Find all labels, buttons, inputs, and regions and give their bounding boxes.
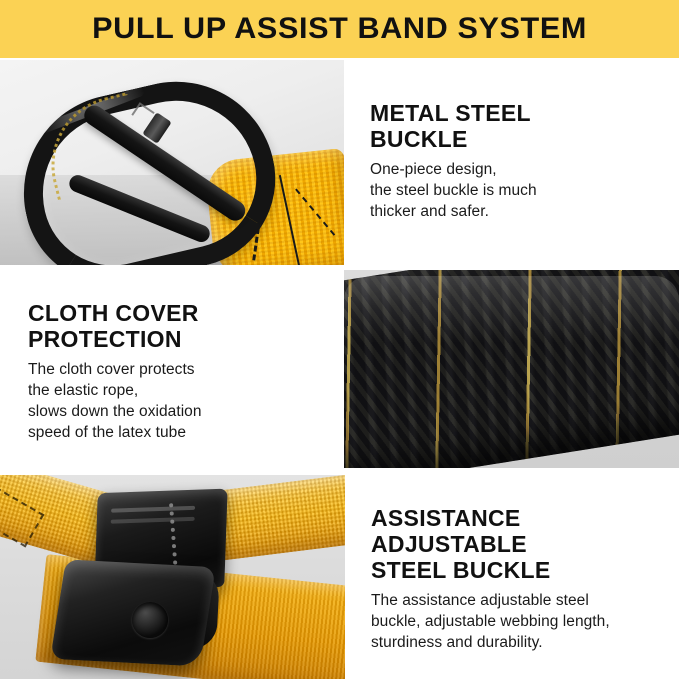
feature-body: The assistance adjustable steel buckle, … (371, 590, 665, 653)
strap-stitch-box (0, 482, 44, 548)
body-line: One-piece design, (370, 159, 661, 180)
feature-text-metal-steel-buckle: METAL STEEL BUCKLE One-piece design, the… (344, 60, 679, 265)
body-line: thicker and safer. (370, 201, 661, 222)
heading-line: PROTECTION (28, 326, 182, 352)
heading-line: ADJUSTABLE (371, 531, 527, 557)
feature-heading: ASSISTANCE ADJUSTABLE STEEL BUCKLE (371, 505, 665, 583)
body-line: sturdiness and durability. (371, 632, 665, 653)
header-banner: PULL UP ASSIST BAND SYSTEM (0, 0, 679, 58)
body-line: The cloth cover protects (28, 359, 330, 380)
product-infographic: PULL UP ASSIST BAND SYSTEM METAL STEEL B… (0, 0, 679, 679)
body-line: slows down the oxidation (28, 401, 330, 422)
page-title: PULL UP ASSIST BAND SYSTEM (92, 14, 587, 44)
heading-line: STEEL BUCKLE (371, 557, 551, 583)
heading-line: ASSISTANCE (371, 505, 521, 531)
heading-line: BUCKLE (370, 126, 468, 152)
body-line: The assistance adjustable steel (371, 590, 665, 611)
heading-line: METAL STEEL (370, 100, 531, 126)
feature-text-assistance-adjustable-steel-buckle: ASSISTANCE ADJUSTABLE STEEL BUCKLE The a… (345, 475, 679, 679)
carabiner-photo (0, 60, 344, 265)
feature-body: One-piece design, the steel buckle is mu… (370, 159, 661, 222)
body-line: the elastic rope, (28, 380, 330, 401)
heading-line: CLOTH COVER (28, 300, 199, 326)
feature-heading: METAL STEEL BUCKLE (370, 100, 661, 152)
body-line: the steel buckle is much (370, 180, 661, 201)
braided-cover-tube (344, 270, 679, 468)
feature-text-cloth-cover-protection: CLOTH COVER PROTECTION The cloth cover p… (0, 270, 344, 468)
cloth-cover-photo (344, 270, 679, 468)
adjustable-buckle-photo (0, 475, 345, 679)
feature-body: The cloth cover protects the elastic rop… (28, 359, 330, 443)
body-line: speed of the latex tube (28, 422, 330, 443)
stitch-line (295, 187, 337, 236)
body-line: buckle, adjustable webbing length, (371, 611, 665, 632)
feature-heading: CLOTH COVER PROTECTION (28, 300, 330, 352)
